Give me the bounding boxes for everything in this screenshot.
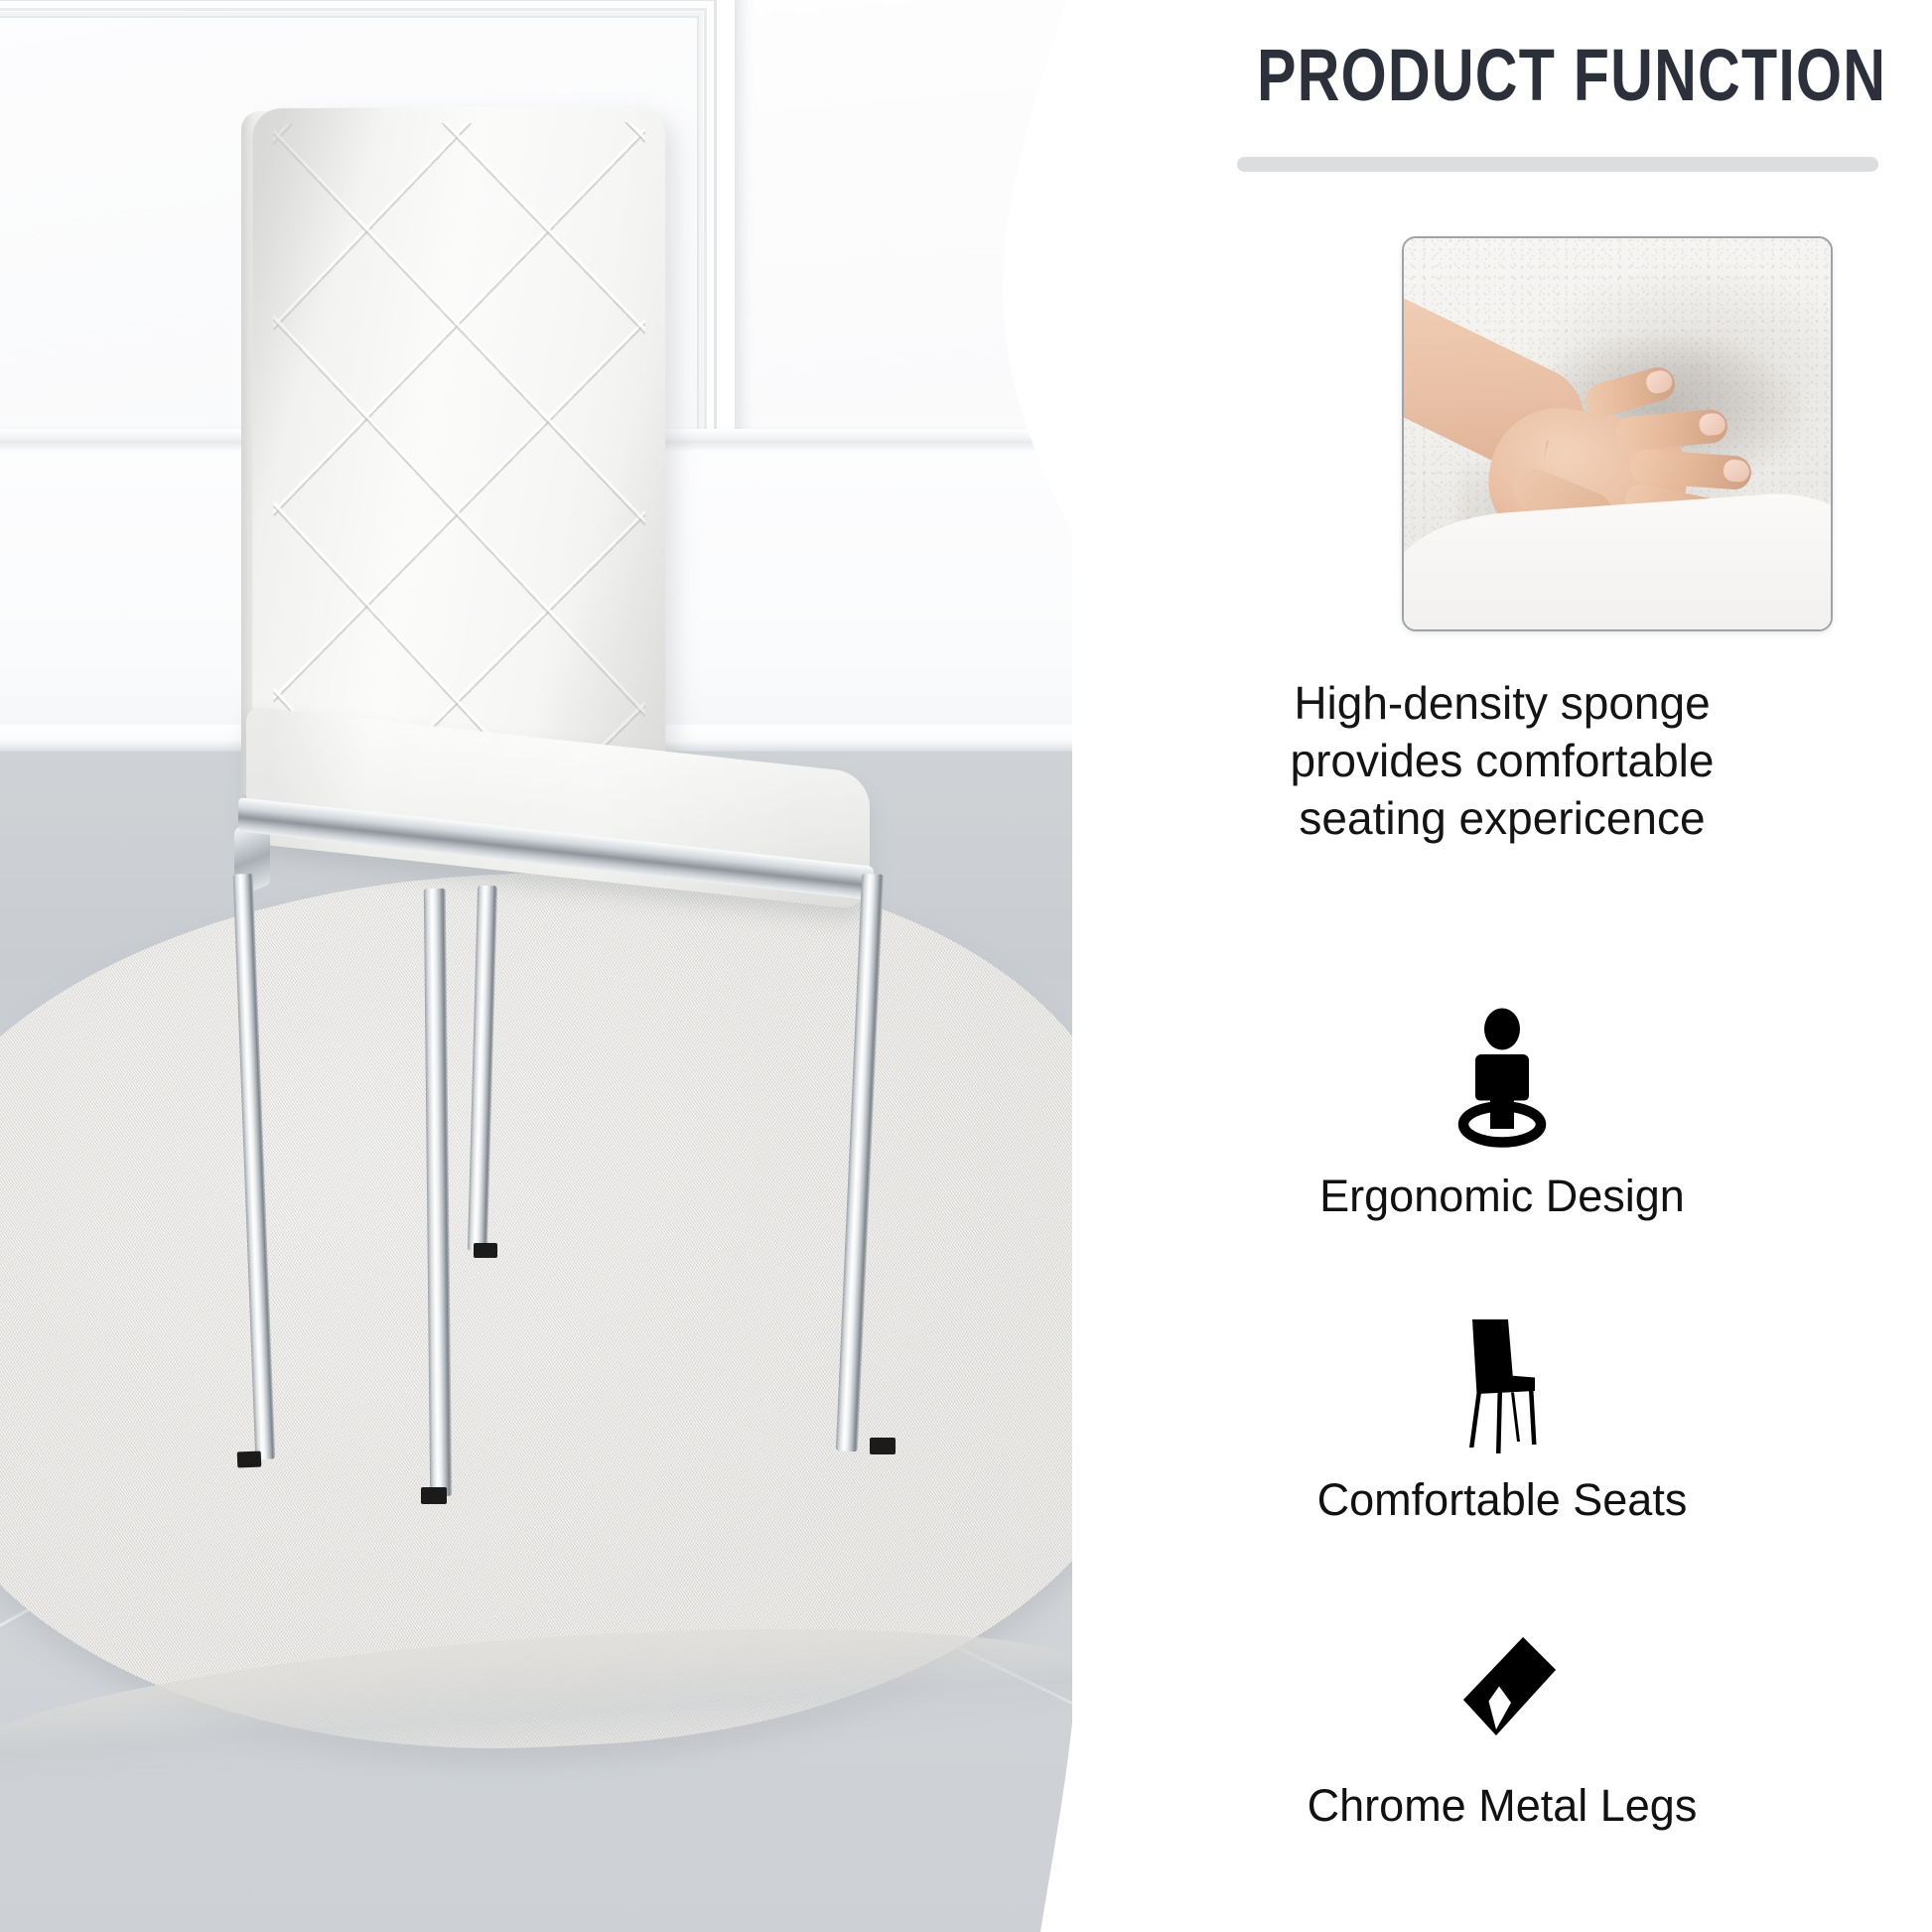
sponge-caption: High-density sponge provides comfortable… <box>1088 675 1916 848</box>
person-in-ring-icon <box>1428 1004 1577 1153</box>
feature-label: Comfortable Seats <box>1072 1475 1932 1525</box>
feature-comfortable-seats: Comfortable Seats <box>1072 1303 1932 1525</box>
dining-chair <box>0 0 1181 1932</box>
high-back-chair-icon <box>1428 1308 1577 1456</box>
feature-chrome-metal-legs: Chrome Metal Legs <box>1072 1608 1932 1831</box>
chair-leg-tip <box>421 1487 447 1504</box>
metal-bar-ingot-icon <box>1428 1613 1577 1762</box>
sponge-caption-line-3: seating expericence <box>1088 790 1916 848</box>
chair-leg-front-left <box>233 874 276 1459</box>
chair-leg-tip <box>474 1243 497 1258</box>
fingernail <box>1699 412 1726 436</box>
sponge-caption-line-2: provides comfortable <box>1088 733 1916 790</box>
feature-label: Ergonomic Design <box>1072 1172 1932 1221</box>
chair-leg-back-left <box>424 889 452 1496</box>
feature-ergonomic-design: Ergonomic Design <box>1072 999 1932 1221</box>
info-panel: PRODUCT FUNCTION High-density sponge pro… <box>1072 0 1932 1932</box>
page-title: PRODUCT FUNCTION <box>1257 38 1876 112</box>
fingernail <box>1644 367 1675 395</box>
icon-wrap <box>1072 999 1932 1158</box>
feature-label: Chrome Metal Legs <box>1072 1781 1932 1831</box>
sponge-photo-card <box>1402 236 1833 631</box>
chair-leg-tip <box>237 1451 262 1468</box>
product-photo <box>0 0 1181 1932</box>
sponge-caption-line-1: High-density sponge <box>1088 675 1916 733</box>
infographic-canvas: PRODUCT FUNCTION High-density sponge pro… <box>0 0 1932 1932</box>
chair-leg-back-right <box>836 874 884 1451</box>
icon-wrap <box>1072 1303 1932 1461</box>
chair-back-quilted <box>252 106 665 802</box>
icon-wrap <box>1072 1608 1932 1767</box>
chair-leg-front-right <box>468 886 497 1251</box>
fingernail <box>1723 459 1749 483</box>
title-divider <box>1237 157 1878 172</box>
chair-leg-tip <box>870 1438 896 1454</box>
